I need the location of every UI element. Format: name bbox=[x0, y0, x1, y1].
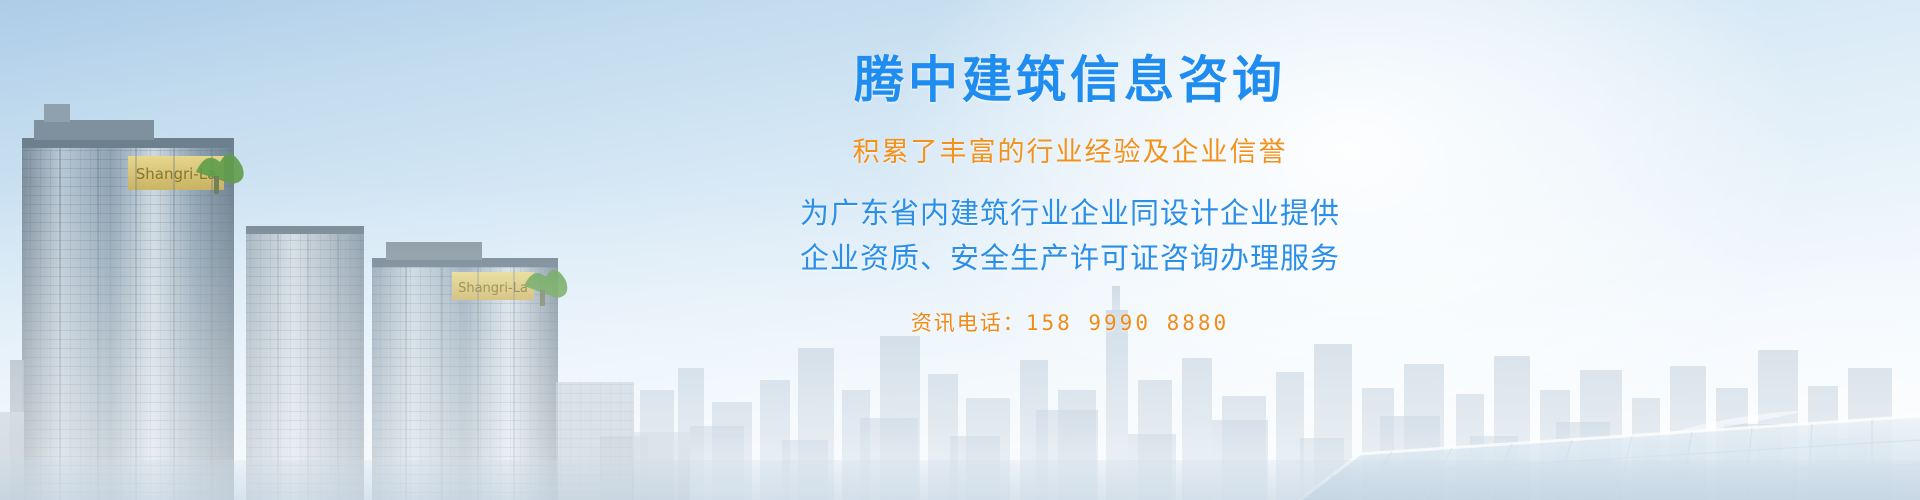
banner-lead-line-2: 企业资质、安全生产许可证咨询办理服务 bbox=[700, 236, 1440, 281]
tower-middle bbox=[246, 226, 364, 500]
tower-left: Shangri-La bbox=[10, 104, 234, 500]
ground-strip bbox=[0, 460, 1920, 500]
banner-copy: 腾中建筑信息咨询 积累了丰富的行业经验及企业信誉 为广东省内建筑行业企业同设计企… bbox=[700, 52, 1440, 358]
banner-subtitle: 积累了丰富的行业经验及企业信誉 bbox=[700, 130, 1440, 169]
svg-text:Shangri-La: Shangri-La bbox=[458, 281, 528, 296]
banner-lead-line-1: 为广东省内建筑行业企业同设计企业提供 bbox=[700, 191, 1440, 236]
promo-banner: Shangri-La bbox=[0, 0, 1920, 500]
contact-phone: 资讯电话：158 9990 8880 bbox=[700, 307, 1440, 337]
phone-number: 158 9990 8880 bbox=[1026, 311, 1229, 335]
glass-office-towers: Shangri-La bbox=[0, 60, 780, 500]
page-title: 腾中建筑信息咨询 bbox=[700, 52, 1440, 108]
phone-label: 资讯电话： bbox=[911, 311, 1026, 335]
